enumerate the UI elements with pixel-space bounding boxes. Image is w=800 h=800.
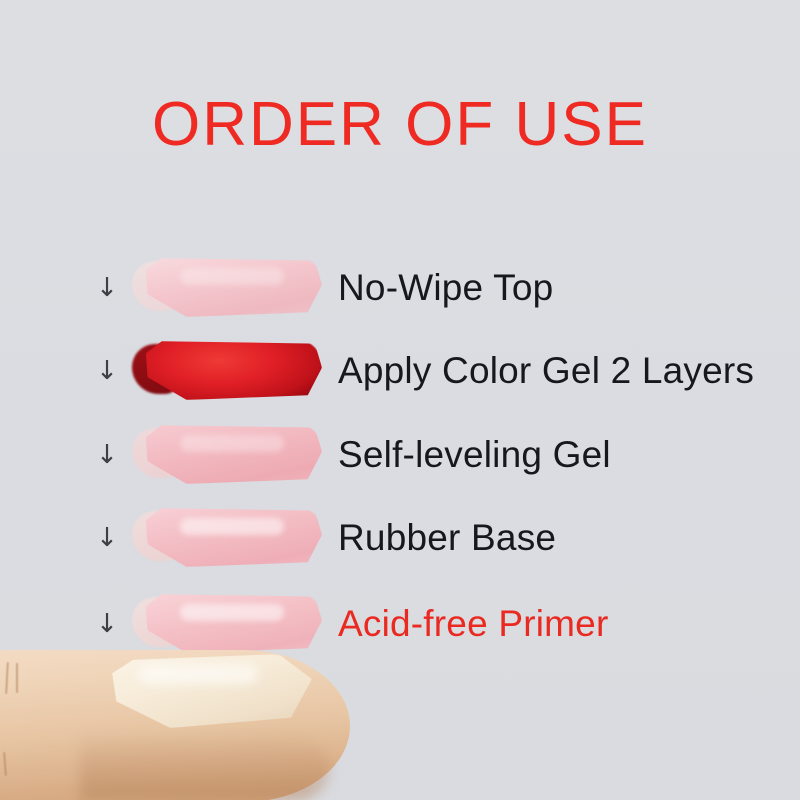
- page-title: ORDER OF USE: [0, 90, 800, 160]
- arrow-down-icon: ↓: [96, 523, 118, 553]
- step-row: ↓ Self-leveling Gel: [0, 415, 800, 495]
- nail-gloss-highlight: [180, 604, 284, 621]
- step-row: ↓ No-Wipe Top: [0, 248, 800, 328]
- step-label-color-gel: Apply Color Gel 2 Layers: [338, 349, 754, 393]
- finger-illustration: [0, 636, 360, 800]
- step-row: ↓ Apply Color Gel 2 Layers: [0, 331, 800, 411]
- arrow-down-icon: ↓: [96, 609, 118, 639]
- step-label-self-leveling-gel: Self-leveling Gel: [338, 433, 611, 477]
- knuckle-crease: [16, 663, 18, 693]
- nail-swatch-rubber-base: [132, 507, 322, 569]
- arrow-down-icon: ↓: [96, 273, 118, 303]
- nail-swatch-no-wipe-top: [132, 257, 322, 319]
- step-label-no-wipe-top: No-Wipe Top: [338, 266, 553, 310]
- nail-swatch-color-gel: [132, 340, 322, 402]
- natural-nail-sheen: [138, 664, 258, 684]
- finger-shadow: [80, 731, 330, 800]
- nail-gloss-highlight: [180, 268, 284, 285]
- step-label-acid-free-primer: Acid-free Primer: [338, 602, 608, 646]
- arrow-down-icon: ↓: [96, 356, 118, 386]
- nail-gloss-highlight: [180, 518, 284, 535]
- order-of-use-infographic: ORDER OF USE ↓ No-Wipe Top ↓ Apply Color…: [0, 0, 800, 800]
- nail-gloss-highlight: [180, 435, 284, 452]
- step-label-rubber-base: Rubber Base: [338, 516, 556, 560]
- nail-swatch-self-leveling-gel: [132, 424, 322, 486]
- step-row: ↓ Rubber Base: [0, 498, 800, 578]
- arrow-down-icon: ↓: [96, 440, 118, 470]
